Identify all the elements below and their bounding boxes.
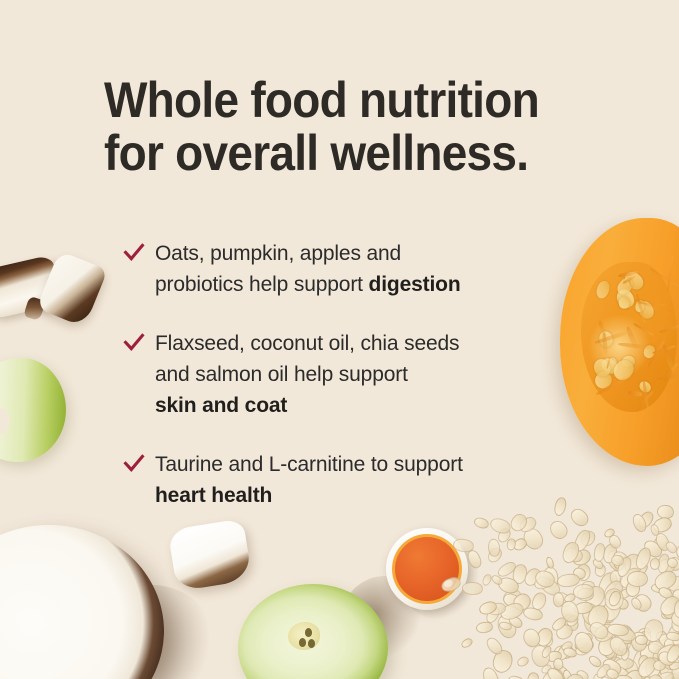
oat-flake bbox=[440, 575, 463, 594]
oat-flake bbox=[533, 575, 553, 591]
oat-flake bbox=[627, 575, 643, 591]
oat-flake bbox=[652, 641, 667, 654]
oat-flake bbox=[591, 557, 605, 571]
oil-bowl-highlight bbox=[443, 578, 454, 588]
text-content: Whole food nutrition for overall wellnes… bbox=[104, 74, 594, 511]
page-title: Whole food nutrition for overall wellnes… bbox=[104, 74, 555, 180]
list-item-text: Flaxseed, coconut oil, chia seeds and sa… bbox=[155, 332, 459, 386]
oat-flake bbox=[652, 649, 669, 673]
oat-flake bbox=[580, 601, 598, 621]
pumpkin-seed bbox=[618, 296, 629, 309]
coconut-shard-image bbox=[23, 296, 46, 321]
oat-flake bbox=[653, 531, 672, 553]
check-icon bbox=[123, 453, 145, 475]
oat-flake bbox=[615, 555, 634, 579]
oat-flake bbox=[574, 638, 595, 655]
list-item-text: Taurine and L-carnitine to support bbox=[155, 453, 463, 476]
pumpkin-seed bbox=[615, 276, 636, 298]
oat-flake bbox=[604, 547, 627, 573]
oat-flake bbox=[603, 638, 616, 659]
oat-flake bbox=[614, 625, 638, 643]
oat-flake bbox=[571, 527, 593, 554]
oat-flake bbox=[630, 512, 649, 534]
oat-flake bbox=[617, 622, 636, 644]
oat-flake bbox=[561, 668, 573, 679]
oat-flake bbox=[497, 575, 522, 596]
oat-flake bbox=[656, 504, 675, 520]
oat-flake bbox=[542, 635, 553, 648]
list-item-text: Oats, pumpkin, apples and probiotics hel… bbox=[155, 242, 401, 296]
oat-flake bbox=[630, 671, 654, 679]
list-item-emphasis: heart health bbox=[155, 484, 272, 507]
oat-flake bbox=[664, 637, 679, 651]
pumpkin-seed bbox=[636, 299, 657, 322]
oat-flake bbox=[668, 660, 679, 671]
oat-flake bbox=[672, 598, 679, 619]
oat-flake bbox=[490, 573, 504, 587]
oat-flake bbox=[477, 599, 498, 616]
oat-flake bbox=[506, 537, 516, 550]
oat-flake bbox=[529, 591, 547, 612]
oat-flake bbox=[569, 547, 592, 569]
pumpkin-seed bbox=[598, 330, 614, 349]
pumpkin-fibre bbox=[626, 326, 641, 353]
oat-flake bbox=[591, 621, 618, 646]
oat-flake bbox=[534, 626, 555, 649]
pumpkin-fibre bbox=[659, 323, 679, 333]
oil-bowl-rim bbox=[392, 534, 462, 604]
oat-flake bbox=[596, 635, 618, 659]
oat-flake bbox=[481, 573, 493, 587]
apple-slice-image bbox=[0, 358, 66, 462]
oat-flake bbox=[640, 666, 653, 679]
benefits-list: Oats, pumpkin, apples and probiotics hel… bbox=[104, 238, 594, 511]
oat-flake bbox=[507, 613, 525, 630]
pumpkin-fibre bbox=[642, 380, 650, 409]
oat-flake bbox=[603, 527, 617, 540]
oat-flake bbox=[517, 514, 540, 536]
oat-flake bbox=[538, 575, 563, 598]
coconut-shard-image bbox=[36, 251, 107, 328]
oat-flake bbox=[673, 538, 679, 563]
oat-flake bbox=[631, 631, 648, 653]
oat-flake bbox=[634, 545, 654, 571]
oat-flake bbox=[554, 622, 576, 643]
pumpkin-fibre bbox=[633, 299, 656, 310]
oat-flake bbox=[594, 661, 613, 679]
oat-flake bbox=[608, 663, 635, 679]
oat-flake bbox=[629, 596, 643, 611]
coconut-half-image bbox=[0, 525, 164, 679]
oat-flake bbox=[550, 615, 569, 633]
oat-flake bbox=[544, 556, 554, 569]
oat-flake bbox=[669, 609, 679, 629]
oat-flake bbox=[510, 590, 534, 614]
oat-flake bbox=[637, 626, 652, 638]
pumpkin-fibre bbox=[597, 320, 606, 337]
oat-flake bbox=[484, 635, 505, 657]
list-item-emphasis: skin and coat bbox=[155, 394, 287, 417]
pumpkin-seed bbox=[591, 356, 614, 380]
oat-flake bbox=[630, 645, 658, 675]
oat-flake bbox=[609, 675, 637, 679]
oat-flake bbox=[641, 537, 665, 561]
oat-flake bbox=[582, 583, 608, 610]
pumpkin-seed bbox=[637, 379, 653, 395]
oat-flake bbox=[614, 657, 636, 671]
oat-flake bbox=[547, 671, 567, 679]
oat-flake bbox=[655, 648, 676, 668]
oat-flake bbox=[638, 642, 663, 663]
pumpkin-seed bbox=[622, 268, 647, 293]
oat-flake bbox=[601, 542, 618, 565]
oat-flake bbox=[632, 591, 655, 615]
oat-flake bbox=[657, 553, 672, 574]
pumpkin-fibre bbox=[652, 345, 676, 355]
oat-flake bbox=[650, 583, 667, 594]
oat-flake bbox=[637, 654, 651, 670]
oat-flake bbox=[614, 631, 632, 653]
pumpkin-fibre bbox=[618, 342, 655, 350]
oat-flake bbox=[620, 667, 649, 679]
oat-flake bbox=[670, 659, 679, 674]
oat-flake bbox=[511, 563, 528, 585]
oat-flake bbox=[480, 665, 501, 679]
oat-flake bbox=[603, 639, 621, 661]
oat-flake bbox=[657, 556, 678, 576]
apple-seed bbox=[299, 638, 306, 647]
oat-flake bbox=[594, 602, 619, 627]
oat-flake bbox=[642, 675, 654, 679]
oat-flake bbox=[667, 555, 679, 572]
oat-flake bbox=[579, 603, 601, 628]
oat-flake bbox=[604, 589, 623, 611]
oat-flake bbox=[621, 671, 639, 679]
oat-flake bbox=[496, 560, 519, 580]
pumpkin-seed bbox=[634, 300, 646, 314]
oat-flake bbox=[592, 672, 606, 679]
oat-flake bbox=[656, 631, 679, 654]
pumpkin-fibre bbox=[638, 302, 666, 307]
oat-flake bbox=[552, 590, 574, 610]
oat-flake bbox=[620, 647, 631, 662]
oil-bowl-shadow bbox=[400, 540, 482, 620]
oat-flake bbox=[656, 593, 679, 620]
oat-flake bbox=[658, 659, 678, 679]
oat-flake bbox=[495, 527, 512, 545]
oat-flake bbox=[613, 624, 634, 641]
oat-flakes-image bbox=[485, 499, 679, 679]
oat-flake bbox=[676, 655, 679, 679]
oat-flake bbox=[499, 601, 526, 623]
oat-flake bbox=[575, 668, 591, 679]
oat-flake bbox=[674, 617, 679, 643]
oat-flake bbox=[665, 556, 679, 570]
oat-flake bbox=[520, 525, 547, 554]
oat-flake bbox=[460, 637, 475, 650]
pumpkin-fibre bbox=[657, 370, 679, 381]
oat-flake bbox=[487, 538, 500, 557]
oat-flake bbox=[533, 568, 557, 590]
oat-flake bbox=[598, 640, 608, 654]
oat-flake bbox=[604, 640, 617, 655]
pumpkin-fibre bbox=[636, 293, 646, 323]
pumpkin-seed bbox=[592, 369, 616, 393]
oat-flake bbox=[606, 622, 629, 637]
pumpkin-fibre bbox=[663, 363, 678, 382]
oat-flake bbox=[501, 591, 522, 609]
oat-flake bbox=[556, 572, 580, 588]
oat-flake bbox=[587, 653, 604, 669]
oat-flake bbox=[598, 674, 616, 679]
oat-flake bbox=[670, 587, 679, 606]
oat-flake bbox=[583, 611, 601, 634]
oat-flake bbox=[653, 659, 667, 671]
pumpkin-fibre bbox=[661, 344, 674, 371]
oat-flake bbox=[645, 656, 663, 679]
oat-flake bbox=[552, 592, 564, 608]
pumpkin-fibre bbox=[618, 269, 639, 277]
oat-flake bbox=[632, 670, 650, 679]
pumpkin-fibre bbox=[647, 340, 666, 368]
list-item: Oats, pumpkin, apples and probiotics hel… bbox=[104, 238, 594, 300]
oat-flake bbox=[657, 586, 675, 602]
oat-flake bbox=[539, 644, 552, 659]
oat-flake bbox=[560, 639, 574, 651]
oil-bowl-contents bbox=[395, 537, 459, 601]
pumpkin-seed bbox=[642, 343, 657, 359]
pumpkin-fibre bbox=[623, 274, 638, 284]
oat-flake bbox=[560, 612, 581, 634]
oat-flake bbox=[507, 674, 525, 679]
oat-flake bbox=[560, 670, 588, 679]
oat-flake bbox=[522, 606, 545, 623]
oat-flake bbox=[596, 570, 621, 598]
oat-flake bbox=[498, 621, 512, 631]
oat-flake bbox=[475, 620, 493, 633]
oat-flake bbox=[664, 539, 679, 554]
oat-flake bbox=[649, 523, 660, 537]
oat-flake bbox=[452, 537, 474, 553]
pumpkin-fibre bbox=[634, 390, 654, 413]
oat-flake bbox=[638, 630, 652, 647]
oat-flake bbox=[611, 636, 622, 650]
oat-flake bbox=[485, 545, 505, 565]
oat-flake bbox=[540, 662, 554, 675]
oat-flake bbox=[545, 650, 562, 663]
pumpkin-fibre bbox=[606, 355, 611, 369]
oat-flake bbox=[635, 658, 659, 679]
oat-flake bbox=[607, 533, 623, 550]
apple-half-shadow bbox=[342, 576, 428, 660]
apple-core bbox=[288, 622, 320, 650]
oat-flake bbox=[564, 613, 580, 629]
oat-flake bbox=[562, 646, 578, 659]
oat-flake bbox=[651, 515, 674, 535]
list-item: Flaxseed, coconut oil, chia seeds and sa… bbox=[104, 328, 594, 421]
oat-flake bbox=[574, 641, 593, 657]
oat-flake bbox=[582, 581, 595, 591]
oat-flake bbox=[617, 587, 632, 601]
oat-flake bbox=[623, 658, 640, 679]
oat-flake bbox=[657, 571, 674, 585]
oat-flake bbox=[573, 600, 594, 615]
pumpkin-seed bbox=[608, 356, 619, 369]
oat-flake bbox=[618, 641, 629, 654]
list-item: Taurine and L-carnitine to support heart… bbox=[104, 449, 594, 511]
oat-flake bbox=[604, 667, 620, 679]
oat-flake bbox=[521, 626, 544, 650]
oat-flake bbox=[545, 665, 567, 679]
apple-slice-notch bbox=[0, 404, 10, 438]
oat-flake bbox=[571, 565, 588, 581]
promo-panel: Whole food nutrition for overall wellnes… bbox=[0, 0, 679, 679]
oat-flake bbox=[664, 643, 679, 665]
oat-flake bbox=[651, 568, 679, 594]
list-item-emphasis: digestion bbox=[369, 273, 461, 296]
oat-flake bbox=[593, 543, 607, 563]
pumpkin-fibre bbox=[666, 256, 673, 292]
oat-flake bbox=[606, 634, 630, 660]
oat-flake bbox=[657, 670, 675, 679]
apple-seed bbox=[305, 628, 312, 637]
oat-flake bbox=[655, 645, 679, 672]
oat-flake bbox=[579, 529, 598, 549]
pumpkin-fibre bbox=[650, 268, 679, 289]
oat-flake bbox=[600, 656, 624, 679]
oat-flake bbox=[614, 658, 630, 676]
pumpkin-fibre bbox=[594, 329, 632, 344]
oat-flake bbox=[627, 571, 649, 587]
oil-bowl-image bbox=[386, 528, 468, 610]
oat-flake bbox=[661, 670, 679, 679]
oat-flake bbox=[635, 654, 660, 679]
apple-half-image bbox=[238, 584, 388, 679]
pumpkin-seed bbox=[622, 355, 636, 368]
oat-flake bbox=[572, 582, 595, 599]
pumpkin-seed bbox=[610, 356, 638, 384]
oat-flake bbox=[525, 671, 540, 679]
oat-flake bbox=[669, 613, 679, 634]
oat-flake bbox=[617, 674, 626, 679]
oat-flake bbox=[665, 575, 679, 595]
oat-flake bbox=[484, 604, 503, 625]
oat-flake bbox=[585, 602, 612, 631]
oat-flake bbox=[616, 565, 642, 591]
oat-flake bbox=[571, 629, 596, 656]
coconut-half-shadow bbox=[86, 585, 218, 679]
oat-flake bbox=[612, 626, 637, 648]
oat-flake bbox=[600, 577, 627, 604]
oat-flake bbox=[612, 557, 622, 570]
oat-flake bbox=[563, 592, 577, 605]
oat-flake bbox=[462, 582, 483, 596]
coconut-chunk-image bbox=[168, 518, 253, 591]
oat-flake bbox=[649, 558, 660, 571]
oat-flake bbox=[670, 628, 679, 648]
oat-flake bbox=[599, 597, 623, 624]
oat-flake bbox=[625, 580, 641, 598]
oat-flake bbox=[576, 563, 591, 581]
oat-flake bbox=[612, 675, 635, 679]
pumpkin-seed bbox=[614, 286, 637, 311]
oat-flake bbox=[672, 672, 679, 679]
oat-flake bbox=[538, 666, 565, 679]
pumpkin-fibre bbox=[628, 390, 643, 397]
oat-flake bbox=[606, 645, 617, 662]
oat-flake bbox=[547, 518, 572, 543]
pumpkin-seed bbox=[595, 279, 611, 299]
oat-flake bbox=[664, 594, 679, 615]
check-icon bbox=[123, 242, 145, 264]
pumpkin-fibre bbox=[637, 384, 650, 401]
oat-flake bbox=[609, 570, 621, 586]
oat-flake bbox=[636, 509, 656, 530]
oat-flake bbox=[577, 587, 595, 601]
pumpkin-seed bbox=[599, 355, 621, 376]
oat-flake bbox=[638, 670, 666, 679]
oat-flake bbox=[550, 662, 572, 679]
oat-flake bbox=[634, 562, 649, 578]
oat-flake bbox=[654, 629, 669, 643]
oat-flake bbox=[494, 613, 519, 641]
oat-flake bbox=[635, 634, 649, 645]
oat-flake bbox=[645, 673, 665, 679]
pumpkin-fibre bbox=[628, 279, 635, 293]
oat-flake bbox=[555, 642, 573, 662]
oat-flake bbox=[563, 546, 585, 566]
oat-flake bbox=[490, 648, 515, 676]
oat-flake bbox=[558, 598, 581, 624]
oat-flake bbox=[465, 548, 483, 570]
oat-flake bbox=[521, 565, 544, 589]
oat-flake bbox=[614, 596, 631, 612]
coconut-shard-image bbox=[0, 255, 63, 320]
pumpkin-fibre bbox=[633, 322, 655, 337]
oat-flake bbox=[674, 615, 679, 630]
oat-flake bbox=[552, 658, 564, 672]
oat-flake bbox=[660, 604, 677, 622]
oat-flake bbox=[511, 536, 528, 552]
oat-flake bbox=[611, 548, 630, 566]
oat-flake bbox=[606, 589, 623, 608]
apple-seed bbox=[308, 639, 315, 648]
oat-flake bbox=[529, 643, 551, 668]
oat-flake bbox=[501, 587, 524, 609]
oat-flake bbox=[515, 655, 530, 669]
oat-flake bbox=[554, 645, 574, 660]
oat-flake bbox=[665, 631, 679, 642]
oat-flake bbox=[666, 622, 679, 642]
oat-flake bbox=[648, 640, 664, 654]
oat-flake bbox=[660, 606, 676, 621]
oat-flake bbox=[643, 675, 660, 679]
pumpkin-seed-cavity bbox=[581, 262, 677, 412]
oat-flake bbox=[655, 642, 679, 668]
oat-flake bbox=[487, 601, 508, 617]
oat-flake bbox=[544, 664, 569, 679]
oat-flake bbox=[489, 516, 514, 536]
oat-flake bbox=[624, 552, 644, 574]
oat-flake bbox=[542, 566, 560, 589]
oat-flake bbox=[560, 540, 582, 566]
oat-flake bbox=[573, 636, 591, 652]
oat-flake bbox=[577, 631, 594, 647]
oat-flake bbox=[586, 619, 611, 643]
oat-flake bbox=[670, 665, 679, 679]
oat-flake bbox=[594, 563, 606, 577]
oat-flake bbox=[505, 580, 518, 595]
